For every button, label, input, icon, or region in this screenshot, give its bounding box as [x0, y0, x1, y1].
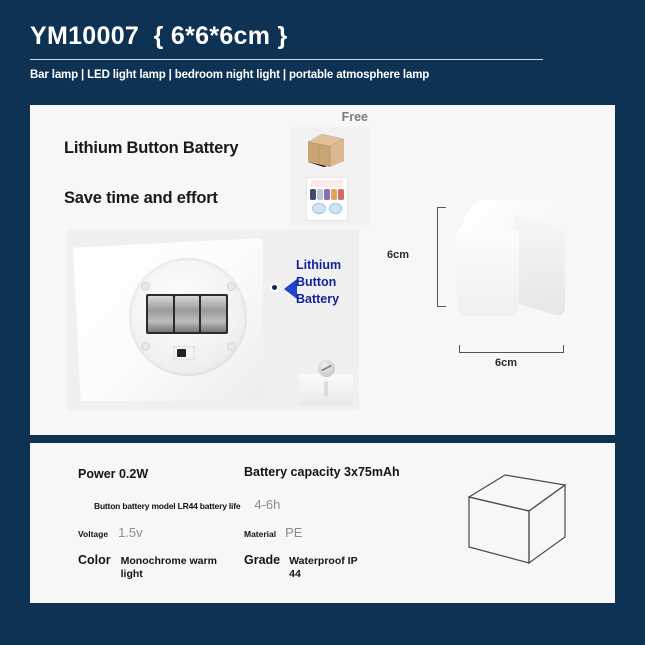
spec-power-label: Power 0.2W	[78, 467, 148, 481]
callout-label: Lithium Button Battery	[296, 257, 341, 308]
mounting-bracket	[299, 360, 353, 406]
spec-row-battery-model: Button battery model LR44 battery life 4…	[78, 497, 428, 512]
headline-primary: Lithium Button Battery	[64, 139, 238, 158]
lamp-body	[73, 238, 263, 401]
feature-headlines: Lithium Button Battery Save time and eff…	[64, 139, 238, 208]
spec-battery-model-label: Button battery model LR44 battery life	[94, 501, 240, 511]
callout-line-3: Battery	[296, 291, 341, 308]
white-cube-lamp	[457, 200, 575, 318]
battery-blister-pack-icon	[306, 177, 348, 221]
height-dimension-bracket	[437, 207, 446, 307]
free-label: Free	[290, 110, 370, 124]
callout-marker-dot	[270, 283, 279, 292]
wireframe-cube-icon	[465, 471, 569, 567]
spec-voltage-value: 1.5v	[118, 525, 143, 540]
callout-line-2: Button	[296, 274, 341, 291]
tagline: Bar lamp | LED light lamp | bedroom nigh…	[30, 69, 615, 81]
specifications-panel: Power 0.2W Battery capacity 3x75mAh Butt…	[30, 443, 615, 603]
power-switch	[173, 346, 195, 360]
spec-row-power: Power 0.2W Battery capacity 3x75mAh	[78, 465, 428, 483]
free-gift-block: Free	[290, 110, 370, 225]
battery-well	[129, 258, 247, 376]
spec-grade-label: Grade	[244, 553, 280, 567]
spec-color-value: Monochrome warm light	[121, 555, 225, 581]
spec-material-value: PE	[285, 525, 302, 540]
spec-row-voltage-material: Voltage 1.5v Material PE	[78, 525, 428, 540]
page-header: YM10007 { 6*6*6cm } Bar lamp | LED light…	[0, 0, 645, 81]
carton-box-icon	[308, 134, 344, 167]
spec-grade-value: Waterproof IP 44	[289, 555, 361, 581]
button-cells	[146, 294, 228, 334]
dimension-diagram: 6cm 6cm	[415, 185, 605, 415]
feature-panel: Lithium Button Battery Save time and eff…	[30, 105, 615, 435]
spec-material-label: Material	[244, 529, 276, 539]
headline-secondary: Save time and effort	[64, 189, 238, 208]
spec-row-color-grade: Color Monochrome warm light Grade Waterp…	[78, 553, 428, 581]
free-gift-card	[290, 127, 369, 225]
spec-battery-life-value: 4-6h	[254, 497, 280, 512]
width-dimension-bracket	[459, 345, 564, 353]
spec-voltage-label: Voltage	[78, 529, 108, 539]
callout-line-1: Lithium	[296, 257, 341, 274]
width-dimension-label: 6cm	[495, 357, 517, 369]
spec-color-label: Color	[78, 553, 111, 567]
spec-capacity-label: Battery capacity 3x75mAh	[244, 465, 400, 479]
title-divider	[30, 59, 543, 60]
page-title: YM10007 { 6*6*6cm }	[30, 22, 615, 51]
height-dimension-label: 6cm	[387, 249, 409, 261]
specifications-table: Power 0.2W Battery capacity 3x75mAh Butt…	[78, 465, 428, 583]
